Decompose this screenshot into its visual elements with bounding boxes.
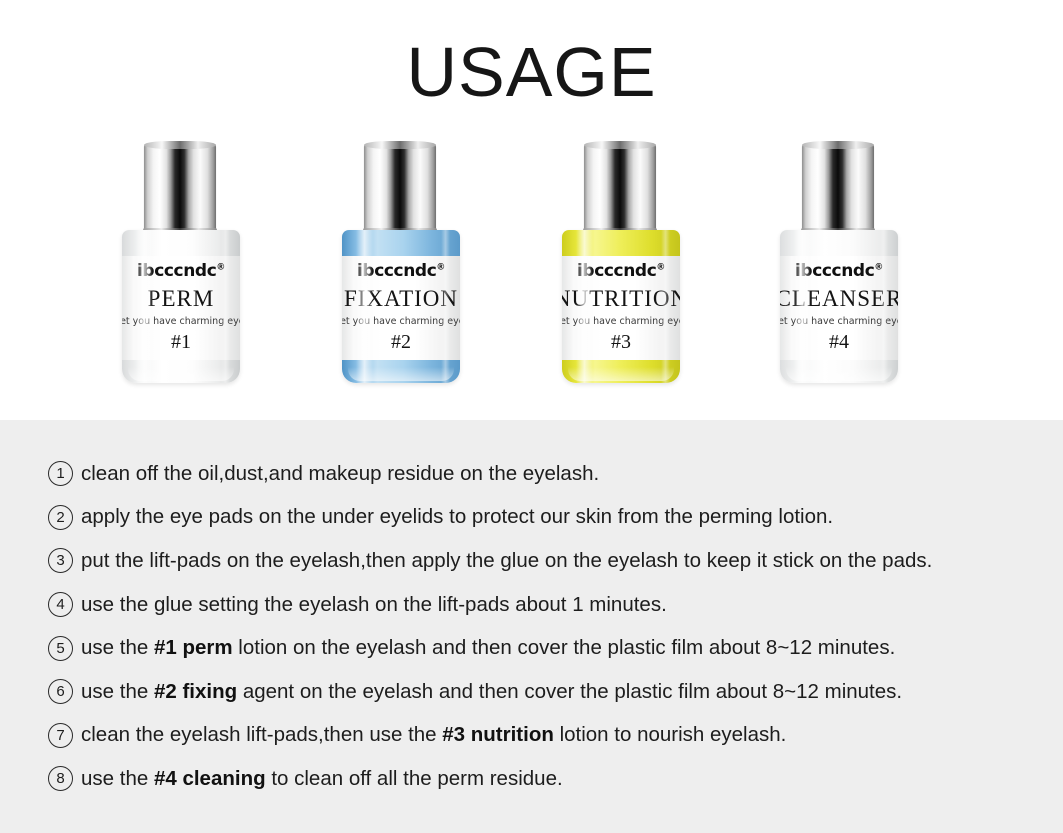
product-bottle-3: ibcccndc®NUTRITIONlet you have charming …: [550, 140, 710, 390]
hero-section: USAGE ibcccndc®PERMlet you have charming…: [0, 0, 1063, 420]
step-text-emphasis: #4 cleaning: [154, 767, 266, 790]
step-text-segment: to clean off all the perm residue.: [266, 767, 563, 790]
product-number: #1: [171, 331, 191, 354]
step-text-segment: agent on the eyelash and then cover the …: [237, 680, 902, 703]
glass-highlight: [356, 230, 373, 383]
glass-highlight-secondary: [441, 230, 450, 383]
bottle-graphic: ibcccndc®NUTRITIONlet you have charming …: [550, 140, 710, 390]
step-text-segment: clean the eyelash lift-pads,then use the: [81, 723, 442, 746]
bottle-cap: [364, 143, 436, 235]
step-text-emphasis: #3 nutrition: [442, 723, 554, 746]
glass-highlight-secondary: [879, 230, 888, 383]
bottle-cap: [584, 143, 656, 235]
step-text: use the #4 cleaning to clean off all the…: [81, 767, 563, 791]
instruction-step: 1clean off the oil,dust,and makeup resid…: [48, 452, 1038, 496]
product-number: #2: [391, 331, 411, 354]
step-number-badge: 7: [48, 723, 73, 748]
step-text-emphasis: #1 perm: [154, 636, 233, 659]
bottle-body: ibcccndc®FIXATIONlet you have charming e…: [342, 230, 460, 383]
bottle-cap-top: [364, 141, 436, 149]
page-title: USAGE: [0, 34, 1063, 110]
product-bottle-1: ibcccndc®PERMlet you have charming eye#1: [110, 140, 270, 390]
bottle-bottom-shine: [786, 367, 892, 381]
step-text: put the lift-pads on the eyelash,then ap…: [81, 549, 932, 573]
step-text: clean off the oil,dust,and makeup residu…: [81, 462, 599, 486]
product-bottle-2: ibcccndc®FIXATIONlet you have charming e…: [330, 140, 490, 390]
bottle-graphic: ibcccndc®PERMlet you have charming eye#1: [110, 140, 270, 390]
step-number-badge: 6: [48, 679, 73, 704]
glass-highlight-secondary: [221, 230, 230, 383]
bottle-body: ibcccndc®CLEANSERlet you have charming e…: [780, 230, 898, 383]
usage-infographic: USAGE ibcccndc®PERMlet you have charming…: [0, 0, 1063, 833]
bottle-graphic: ibcccndc®CLEANSERlet you have charming e…: [768, 140, 928, 390]
bottle-cap-top: [802, 141, 874, 149]
step-text-segment: lotion to nourish eyelash.: [554, 723, 786, 746]
step-text-segment: apply the eye pads on the under eyelids …: [81, 505, 833, 528]
step-number-badge: 2: [48, 505, 73, 530]
step-text: clean the eyelash lift-pads,then use the…: [81, 723, 786, 747]
instruction-step: 5use the #1 perm lotion on the eyelash a…: [48, 626, 1038, 670]
step-number-badge: 3: [48, 548, 73, 573]
step-number-badge: 8: [48, 766, 73, 791]
step-text: use the #2 fixing agent on the eyelash a…: [81, 680, 902, 704]
bottle-body: ibcccndc®PERMlet you have charming eye#1: [122, 230, 240, 383]
instructions-panel: 1clean off the oil,dust,and makeup resid…: [0, 420, 1063, 833]
step-text-segment: put the lift-pads on the eyelash,then ap…: [81, 549, 932, 572]
step-number-badge: 4: [48, 592, 73, 617]
step-number-badge: 5: [48, 636, 73, 661]
step-text-segment: use the: [81, 767, 154, 790]
bottle-bottom-shine: [348, 367, 454, 381]
glass-highlight: [136, 230, 153, 383]
step-text-segment: use the: [81, 636, 154, 659]
product-number: #3: [611, 331, 631, 354]
instruction-step-list: 1clean off the oil,dust,and makeup resid…: [48, 452, 1038, 801]
step-text-segment: use the glue setting the eyelash on the …: [81, 593, 667, 616]
step-text: apply the eye pads on the under eyelids …: [81, 505, 833, 529]
instruction-step: 6use the #2 fixing agent on the eyelash …: [48, 670, 1038, 714]
step-text: use the #1 perm lotion on the eyelash an…: [81, 636, 895, 660]
step-text: use the glue setting the eyelash on the …: [81, 593, 667, 617]
bottle-cap-top: [584, 141, 656, 149]
product-name: PERM: [148, 286, 215, 312]
product-number: #4: [829, 331, 849, 354]
glass-highlight: [576, 230, 593, 383]
step-text-segment: lotion on the eyelash and then cover the…: [233, 636, 896, 659]
bottle-cap-top: [144, 141, 216, 149]
bottle-graphic: ibcccndc®FIXATIONlet you have charming e…: [330, 140, 490, 390]
product-bottle-row: ibcccndc®PERMlet you have charming eye#1…: [0, 140, 1063, 390]
glass-highlight-secondary: [661, 230, 670, 383]
step-text-segment: clean off the oil,dust,and makeup residu…: [81, 462, 599, 485]
glass-highlight: [794, 230, 811, 383]
product-bottle-4: ibcccndc®CLEANSERlet you have charming e…: [768, 140, 928, 390]
bottle-cap: [144, 143, 216, 235]
bottle-cap: [802, 143, 874, 235]
step-text-segment: use the: [81, 680, 154, 703]
step-number-badge: 1: [48, 461, 73, 486]
bottle-body: ibcccndc®NUTRITIONlet you have charming …: [562, 230, 680, 383]
instruction-step: 4use the glue setting the eyelash on the…: [48, 583, 1038, 627]
instruction-step: 8use the #4 cleaning to clean off all th…: [48, 757, 1038, 801]
bottle-bottom-shine: [568, 367, 674, 381]
bottle-bottom-shine: [128, 367, 234, 381]
step-text-emphasis: #2 fixing: [154, 680, 237, 703]
instruction-step: 2apply the eye pads on the under eyelids…: [48, 496, 1038, 540]
instruction-step: 7clean the eyelash lift-pads,then use th…: [48, 714, 1038, 758]
instruction-step: 3put the lift-pads on the eyelash,then a…: [48, 539, 1038, 583]
